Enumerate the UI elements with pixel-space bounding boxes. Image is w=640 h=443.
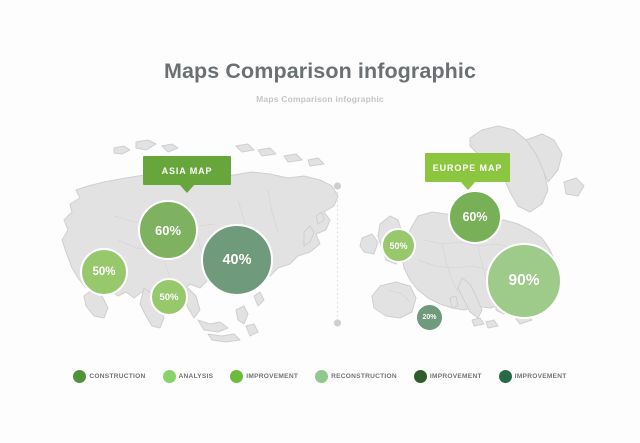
europe-map-panel[interactable]: EUROPE MAP 60% 50% 90% 20% (358, 120, 618, 355)
header: Maps Comparison infographic Maps Compari… (0, 58, 640, 104)
legend-item-analysis[interactable]: ANALYSIS (163, 370, 214, 383)
legend-dot-icon (315, 370, 328, 383)
legend-dot-icon (230, 370, 243, 383)
asia-map-panel[interactable]: ASIA MAP 60% 50% 50% 40% (58, 120, 343, 355)
legend-label: CONSTRUCTION (89, 373, 145, 380)
europe-bubble-2[interactable]: 50% (381, 228, 416, 263)
legend-item-reconstruction[interactable]: RECONSTRUCTION (315, 370, 397, 383)
legend-dot-icon (163, 370, 176, 383)
legend-item-improvement-2[interactable]: IMPROVEMENT (414, 370, 482, 383)
asia-bubble-4-value: 40% (222, 252, 251, 268)
asia-bubble-4[interactable]: 40% (201, 224, 273, 296)
europe-bubble-1[interactable]: 60% (448, 190, 502, 244)
legend-dot-icon (414, 370, 427, 383)
europe-bubble-4-value: 20% (422, 314, 436, 321)
legend-label: IMPROVEMENT (430, 373, 482, 380)
legend-item-construction[interactable]: CONSTRUCTION (73, 370, 145, 383)
legend-dot-icon (499, 370, 512, 383)
infographic-slide: Maps Comparison infographic Maps Compari… (0, 0, 640, 443)
legend-label: IMPROVEMENT (515, 373, 567, 380)
asia-bubble-2-value: 50% (92, 266, 115, 278)
europe-bubble-2-value: 50% (389, 241, 407, 251)
page-subtitle: Maps Comparison infographic (0, 94, 640, 104)
asia-map-banner[interactable]: ASIA MAP (143, 156, 231, 185)
asia-bubble-3-value: 50% (159, 292, 178, 303)
legend-item-improvement-1[interactable]: IMPROVEMENT (230, 370, 298, 383)
asia-bubble-1-value: 60% (155, 223, 181, 238)
asia-map-banner-label: ASIA MAP (162, 166, 213, 176)
asia-bubble-3[interactable]: 50% (150, 278, 188, 316)
legend: CONSTRUCTION ANALYSIS IMPROVEMENT RECONS… (0, 370, 640, 383)
asia-bubble-1[interactable]: 60% (138, 200, 198, 260)
legend-label: IMPROVEMENT (246, 373, 298, 380)
europe-map-banner-label: EUROPE MAP (433, 163, 503, 173)
europe-map-banner[interactable]: EUROPE MAP (425, 153, 510, 182)
legend-dot-icon (73, 370, 86, 383)
europe-bubble-3[interactable]: 90% (486, 243, 562, 319)
europe-bubble-1-value: 60% (462, 210, 487, 224)
banner-pointer (460, 181, 476, 190)
maps-stage: ASIA MAP 60% 50% 50% 40% (0, 120, 640, 355)
legend-item-improvement-3[interactable]: IMPROVEMENT (499, 370, 567, 383)
vertical-dotted-divider (333, 182, 342, 327)
asia-bubble-2[interactable]: 50% (80, 248, 128, 296)
legend-label: RECONSTRUCTION (331, 373, 397, 380)
europe-bubble-3-value: 90% (508, 272, 539, 290)
legend-label: ANALYSIS (179, 373, 214, 380)
page-title: Maps Comparison infographic (0, 58, 640, 84)
banner-pointer (179, 184, 195, 193)
europe-bubble-4[interactable]: 20% (415, 303, 444, 332)
